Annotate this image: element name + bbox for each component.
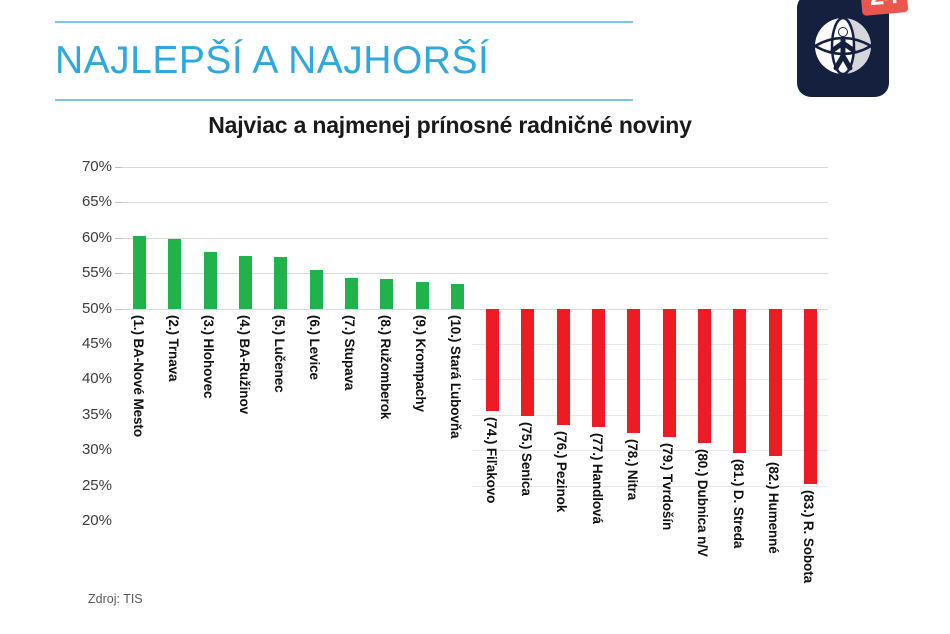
y-tickmark (115, 309, 122, 310)
x-axis-tick-label: (80.) Dubnica n/V (695, 449, 710, 557)
chart-bar (663, 309, 676, 438)
x-axis-tick-label: (76.) Pezinok (554, 431, 569, 512)
x-axis-tick-label: (7.) Stupava (342, 315, 357, 390)
x-axis-tick-label: (6.) Levice (307, 315, 322, 380)
bar-series (122, 167, 828, 521)
chart-bar (698, 309, 711, 444)
chart-bar (486, 309, 499, 412)
header-rule-bottom (55, 99, 633, 101)
chart-bar (804, 309, 817, 485)
header-rule-top (55, 21, 633, 23)
y-tickmark (115, 202, 122, 203)
chart-bar (451, 284, 464, 309)
x-axis-tick-label: (83.) R. Sobota (801, 490, 816, 583)
chart-bar (380, 279, 393, 309)
y-tickmark (115, 167, 122, 168)
page-title: NAJLEPŠÍ A NAJHORŠÍ (55, 30, 489, 92)
x-axis-tick-label: (78.) Nitra (625, 439, 640, 500)
chart-bar (416, 282, 429, 309)
y-axis-tick-label: 50% (60, 300, 112, 317)
chart-bar (521, 309, 534, 417)
x-axis-tick-label: (81.) D. Streda (731, 459, 746, 548)
chart-bar (769, 309, 782, 456)
y-axis-tick-label: 55% (60, 264, 112, 281)
chart-bar (627, 309, 640, 434)
chart-plot-area: 70%65%60%55%50%45%40%35%30%25%20% (122, 167, 828, 521)
chart-bar (239, 256, 252, 309)
x-axis-tick-label: (74.) Fiľakovo (484, 417, 499, 503)
chart-bar (274, 257, 287, 309)
x-axis-tick-label: (2.) Trnava (166, 315, 181, 381)
chart-bar (168, 239, 181, 308)
x-axis-tick-label: (4.) BA-Ružinov (237, 315, 252, 414)
y-axis-tick-label: 40% (60, 370, 112, 387)
x-axis-tick-label: (75.) Senica (519, 422, 534, 496)
y-axis-tick-label: 45% (60, 335, 112, 352)
x-axis-tick-label: (1.) BA-Nové Mesto (131, 315, 146, 437)
y-axis-tick-label: 65% (60, 193, 112, 210)
chart-bar (133, 236, 146, 309)
x-axis-tick-label: (10.) Stará Ľubovňa (448, 315, 463, 438)
globe-person-icon (813, 16, 873, 76)
chart-bar (345, 278, 358, 308)
channel-logo: 24 (797, 0, 889, 97)
y-tickmark (115, 238, 122, 239)
x-axis-tick-label: (77.) Handlová (590, 433, 605, 524)
chart-title: Najviac a najmenej prínosné radničné nov… (0, 112, 900, 139)
x-axis-tick-label: (79.) Tvrdošín (660, 443, 675, 530)
y-axis-tick-label: 35% (60, 406, 112, 423)
y-axis-tick-label: 70% (60, 158, 112, 175)
chart-bar (557, 309, 570, 425)
source-note: Zdroj: TIS (88, 592, 143, 606)
x-axis-tick-label: (9.) Krompachy (413, 315, 428, 412)
x-axis-tick-label: (5.) Lučenec (272, 315, 287, 393)
chart-bar (204, 252, 217, 309)
y-axis-tick-label: 20% (60, 512, 112, 529)
y-axis-tick-label: 60% (60, 229, 112, 246)
y-axis-tick-label: 30% (60, 441, 112, 458)
x-axis-tick-label: (3.) Hlohovec (201, 315, 216, 398)
chart-bar (733, 309, 746, 453)
y-tickmark (115, 273, 122, 274)
x-axis-tick-label: (8.) Ružomberok (378, 315, 393, 419)
y-axis-tick-label: 25% (60, 477, 112, 494)
chart-bar (310, 270, 323, 309)
chart-bar (592, 309, 605, 427)
x-axis-tick-label: (82.) Humenné (766, 462, 781, 554)
